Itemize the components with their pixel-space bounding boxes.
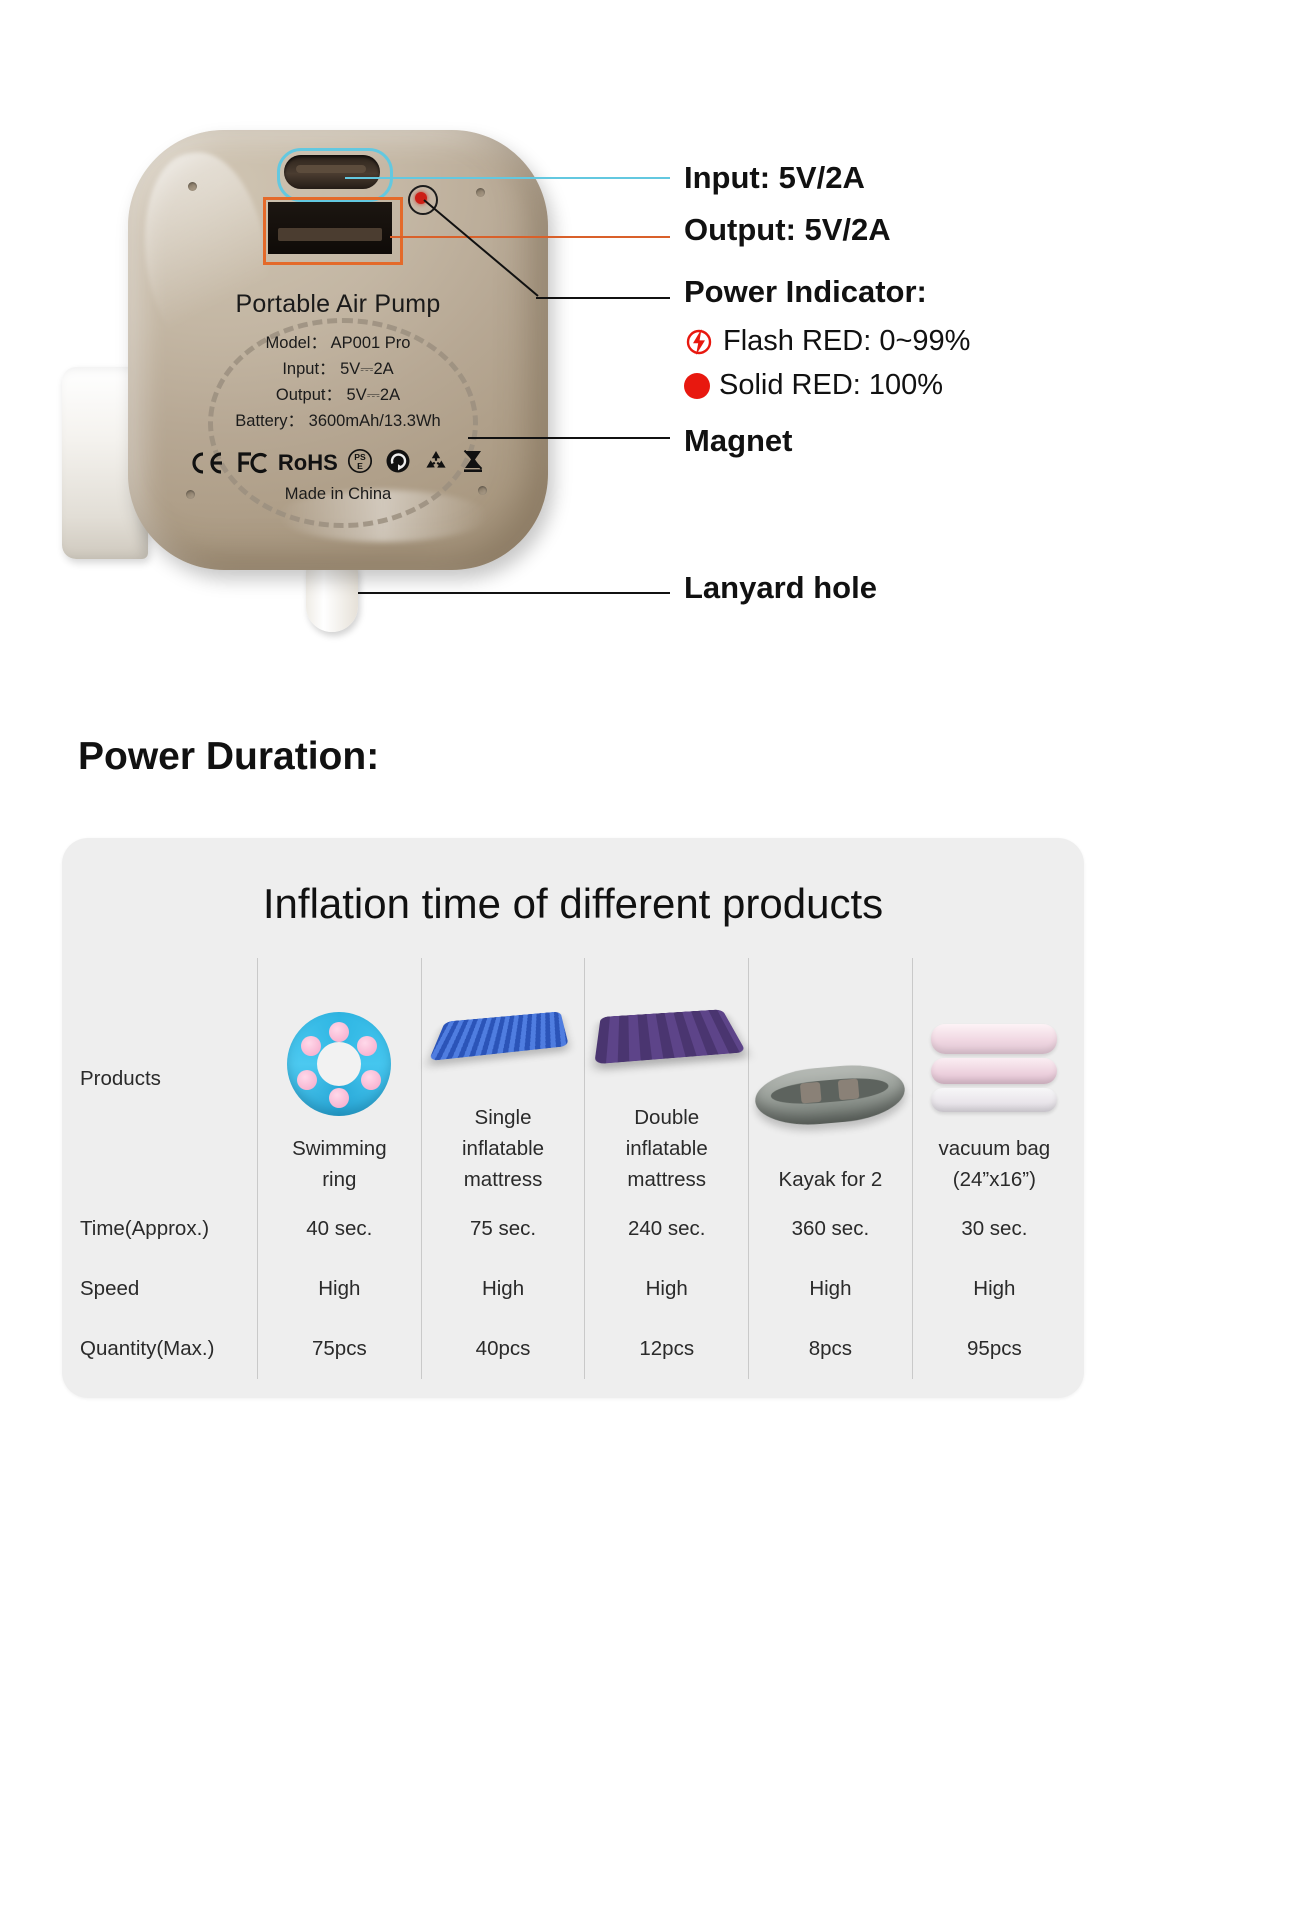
table-cell-product-kayak: Kayak for 2 <box>749 958 913 1199</box>
weee-mark-icon <box>461 448 485 474</box>
leader-line-lanyard <box>358 592 670 594</box>
row-header-time: Time(Approx.) <box>70 1199 258 1259</box>
table-cell-speed-double-mattress: High <box>585 1259 749 1319</box>
screw-dimple <box>188 182 197 191</box>
table-cell-quantity-kayak: 8pcs <box>749 1319 913 1379</box>
leader-line-power-indicator <box>420 198 540 298</box>
table-cell-time-single-mattress: 75 sec. <box>421 1199 585 1259</box>
callout-flash-red-label: Flash RED: 0~99% <box>723 325 970 358</box>
table-cell-quantity-swimming-ring: 75pcs <box>258 1319 422 1379</box>
callout-solid-red-label: Solid RED: 100% <box>719 369 943 402</box>
product-name-kayak: Kayak for 2 <box>779 1164 883 1195</box>
leader-line-magnet <box>468 437 670 439</box>
lanyard-hole-stub <box>306 560 358 632</box>
power-duration-heading: Power Duration: <box>78 735 379 779</box>
spec-line-battery: Battery： 3600mAh/13.3Wh <box>128 408 548 434</box>
row-header-products: Products <box>70 958 258 1199</box>
callout-input: Input: 5V/2A <box>684 160 865 196</box>
certification-marks: RoHS PS E <box>128 448 548 476</box>
table-cell-speed-swimming-ring: High <box>258 1259 422 1319</box>
made-in-label: Made in China <box>128 485 548 504</box>
screw-dimple <box>476 188 485 197</box>
table-cell-product-vacuum-bag: vacuum bag (24”x16”) <box>912 958 1076 1199</box>
table-cell-product-single-mattress: Single inflatable mattress <box>421 958 585 1199</box>
callout-flash-red: Flash RED: 0~99% <box>684 325 970 358</box>
product-name-double-mattress: Double inflatable mattress <box>626 1102 708 1195</box>
table-cell-quantity-double-mattress: 12pcs <box>585 1319 749 1379</box>
table-row-products: Products <box>70 958 1076 1199</box>
table-cell-speed-kayak: High <box>749 1259 913 1319</box>
single-mattress-icon <box>439 974 567 1092</box>
kayak-icon <box>755 1036 905 1154</box>
usb-a-highlight-ring <box>263 197 403 265</box>
row-header-quantity: Quantity(Max.) <box>70 1319 258 1379</box>
callout-power-indicator: Power Indicator: <box>684 274 927 310</box>
recycling-mark-icon <box>423 448 449 474</box>
callout-label-group: Input: 5V/2A Output: 5V/2A Power Indicat… <box>684 0 1294 760</box>
product-name-single-mattress: Single inflatable mattress <box>462 1102 544 1195</box>
china-recycle-mark-icon <box>385 448 411 474</box>
spec-line-input: Input： 5V⎓2A <box>128 356 548 382</box>
swimming-ring-icon <box>287 1005 391 1123</box>
table-cell-product-swimming-ring: Swimming ring <box>258 958 422 1199</box>
device-spec-block: Model： AP001 Pro Input： 5V⎓2A Output： 5V… <box>128 330 548 434</box>
inflation-table-title: Inflation time of different products <box>62 880 1084 928</box>
table-row-quantity: Quantity(Max.) 75pcs 40pcs 12pcs 8pcs 95… <box>70 1319 1076 1379</box>
table-cell-speed-single-mattress: High <box>421 1259 585 1319</box>
table-row-time: Time(Approx.) 40 sec. 75 sec. 240 sec. 3… <box>70 1199 1076 1259</box>
spec-line-output: Output： 5V⎓2A <box>128 382 548 408</box>
leader-line-input <box>345 177 670 179</box>
spec-line-model: Model： AP001 Pro <box>128 330 548 356</box>
table-cell-quantity-vacuum-bag: 95pcs <box>912 1319 1076 1379</box>
callout-lanyard-hole: Lanyard hole <box>684 570 877 606</box>
callout-solid-red: Solid RED: 100% <box>684 369 943 402</box>
solid-red-dot-icon <box>684 373 710 399</box>
inflation-table-wrapper: Products <box>70 958 1076 1379</box>
product-name-vacuum-bag: vacuum bag (24”x16”) <box>939 1133 1051 1195</box>
svg-text:E: E <box>357 461 363 471</box>
row-header-speed: Speed <box>70 1259 258 1319</box>
table-cell-time-swimming-ring: 40 sec. <box>258 1199 422 1259</box>
pse-mark-icon: PS E <box>347 448 373 474</box>
table-cell-time-double-mattress: 240 sec. <box>585 1199 749 1259</box>
table-cell-speed-vacuum-bag: High <box>912 1259 1076 1319</box>
table-cell-product-double-mattress: Double inflatable mattress <box>585 958 749 1199</box>
inflation-table: Products <box>70 958 1076 1379</box>
product-diagram: Portable Air Pump Model： AP001 Pro Input… <box>0 0 1301 760</box>
inflation-time-card: Inflation time of different products Pro… <box>62 838 1084 1398</box>
flash-bolt-icon <box>684 327 714 357</box>
fcc-mark-icon <box>237 452 269 474</box>
usb-c-highlight-ring <box>277 148 393 202</box>
callout-magnet: Magnet <box>684 423 793 459</box>
rohs-mark-label: RoHS <box>278 450 338 475</box>
double-mattress-icon <box>599 974 735 1092</box>
table-cell-quantity-single-mattress: 40pcs <box>421 1319 585 1379</box>
table-cell-time-kayak: 360 sec. <box>749 1199 913 1259</box>
vacuum-bag-icon <box>931 1005 1057 1123</box>
table-row-speed: Speed High High High High High <box>70 1259 1076 1319</box>
ce-mark-icon <box>191 452 225 474</box>
table-cell-time-vacuum-bag: 30 sec. <box>912 1199 1076 1259</box>
leader-line-power-horizontal <box>536 297 670 299</box>
callout-output: Output: 5V/2A <box>684 212 891 248</box>
product-name-swimming-ring: Swimming ring <box>292 1133 387 1195</box>
